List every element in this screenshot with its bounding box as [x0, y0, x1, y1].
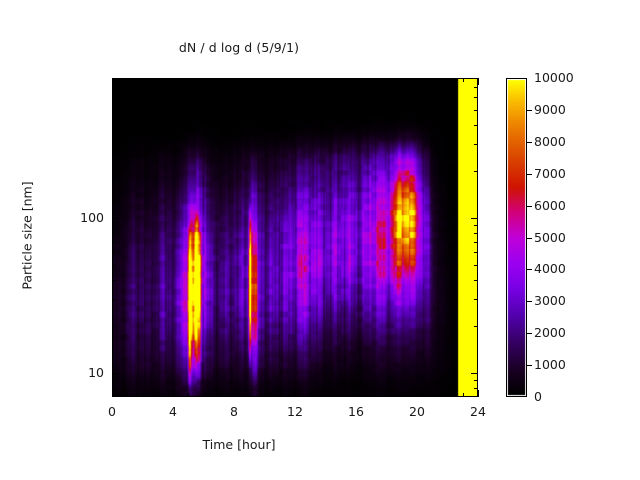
colorbar-tick-label-1000: 1000 [534, 357, 566, 372]
x-tick-label-16: 16 [336, 404, 376, 419]
x-tick-2 [143, 393, 144, 397]
x-tick-4 [173, 390, 174, 397]
colorbar-tick-label-7000: 7000 [534, 166, 566, 181]
y-tick-right-400 [474, 125, 478, 126]
y-tick-40 [112, 280, 116, 281]
colorbar-tick-8000 [527, 142, 532, 143]
x-tick-18 [387, 393, 388, 397]
x-tick-3 [158, 393, 159, 397]
y-tick-600 [112, 97, 116, 98]
y-tick-700 [112, 87, 116, 88]
x-tick-17 [371, 393, 372, 397]
x-tick-1 [127, 393, 128, 397]
x-tick-15 [341, 393, 342, 397]
y-tick-20 [112, 326, 116, 327]
y-tick-right-600 [474, 97, 478, 98]
y-tick-right-20 [474, 326, 478, 327]
x-tick-0 [112, 390, 113, 397]
x-tick-7 [219, 393, 220, 397]
x-tick-top-18 [387, 78, 388, 82]
x-tick-top-7 [219, 78, 220, 82]
y-tick-right-10 [471, 373, 478, 374]
x-tick-16 [356, 390, 357, 397]
x-tick-top-20 [417, 78, 418, 85]
y-tick-200 [112, 171, 116, 172]
x-tick-top-4 [173, 78, 174, 85]
y-tick-right-200 [474, 171, 478, 172]
y-axis-title: Particle size [nm] [20, 146, 35, 326]
x-axis-title: Time [hour] [0, 437, 478, 452]
colorbar-tick-label-8000: 8000 [534, 134, 566, 149]
x-tick-23 [463, 393, 464, 397]
x-tick-top-9 [249, 78, 250, 82]
x-tick-top-22 [448, 78, 449, 82]
y-tick-60 [112, 252, 116, 253]
x-tick-20 [417, 390, 418, 397]
y-tick-label-10: 10 [64, 365, 104, 380]
y-tick-right-500 [474, 110, 478, 111]
colorbar [506, 78, 527, 397]
x-tick-9 [249, 393, 250, 397]
figure-root: dN / d log d (5/9/1) 0481216202410100 Ti… [0, 0, 640, 480]
x-tick-top-19 [402, 78, 403, 82]
x-tick-label-24: 24 [458, 404, 498, 419]
x-tick-top-5 [188, 78, 189, 82]
colorbar-tick-label-4000: 4000 [534, 261, 566, 276]
colorbar-tick-4000 [527, 269, 532, 270]
y-tick-8 [112, 388, 116, 389]
x-tick-label-20: 20 [397, 404, 437, 419]
colorbar-tick-9000 [527, 110, 532, 111]
x-tick-top-1 [127, 78, 128, 82]
x-tick-top-0 [112, 78, 113, 85]
y-tick-30 [112, 299, 116, 300]
x-tick-label-12: 12 [275, 404, 315, 419]
y-tick-80 [112, 233, 116, 234]
y-tick-400 [112, 125, 116, 126]
y-tick-300 [112, 144, 116, 145]
x-tick-top-12 [295, 78, 296, 85]
colorbar-tick-label-5000: 5000 [534, 230, 566, 245]
x-tick-top-16 [356, 78, 357, 85]
x-tick-21 [432, 393, 433, 397]
colorbar-tick-label-2000: 2000 [534, 325, 566, 340]
heatmap-image [113, 79, 477, 396]
colorbar-tick-label-3000: 3000 [534, 293, 566, 308]
colorbar-tick-label-0: 0 [534, 389, 542, 404]
x-tick-label-4: 4 [153, 404, 193, 419]
colorbar-tick-6000 [527, 206, 532, 207]
colorbar-tick-2000 [527, 333, 532, 334]
x-tick-13 [310, 393, 311, 397]
x-tick-14 [326, 393, 327, 397]
heatmap-plot-area [112, 78, 478, 397]
x-tick-top-24 [478, 78, 479, 85]
colorbar-tick-label-10000: 10000 [534, 70, 574, 85]
x-tick-11 [280, 393, 281, 397]
x-tick-8 [234, 390, 235, 397]
y-tick-100 [112, 218, 119, 219]
x-tick-top-11 [280, 78, 281, 82]
y-tick-right-60 [474, 252, 478, 253]
y-tick-70 [112, 242, 116, 243]
x-tick-top-10 [265, 78, 266, 82]
colorbar-tick-label-6000: 6000 [534, 198, 566, 213]
x-tick-12 [295, 390, 296, 397]
x-tick-19 [402, 393, 403, 397]
y-tick-right-40 [474, 280, 478, 281]
y-tick-label-100: 100 [64, 210, 104, 225]
colorbar-tick-7000 [527, 174, 532, 175]
colorbar-tick-1000 [527, 365, 532, 366]
x-tick-top-14 [326, 78, 327, 82]
y-tick-right-300 [474, 144, 478, 145]
y-tick-right-30 [474, 299, 478, 300]
y-tick-9 [112, 380, 116, 381]
y-tick-right-8 [474, 388, 478, 389]
y-tick-500 [112, 110, 116, 111]
x-tick-top-15 [341, 78, 342, 82]
x-tick-top-21 [432, 78, 433, 82]
x-tick-10 [265, 393, 266, 397]
y-tick-10 [112, 373, 119, 374]
x-tick-5 [188, 393, 189, 397]
y-tick-right-90 [474, 225, 478, 226]
y-tick-right-700 [474, 87, 478, 88]
x-tick-24 [478, 390, 479, 397]
x-tick-top-23 [463, 78, 464, 82]
colorbar-tick-label-9000: 9000 [534, 102, 566, 117]
colorbar-tick-5000 [527, 238, 532, 239]
y-tick-right-80 [474, 233, 478, 234]
y-tick-right-9 [474, 380, 478, 381]
x-tick-top-6 [204, 78, 205, 82]
y-tick-90 [112, 225, 116, 226]
x-tick-top-17 [371, 78, 372, 82]
x-tick-22 [448, 393, 449, 397]
y-tick-50 [112, 265, 116, 266]
y-tick-right-70 [474, 242, 478, 243]
y-tick-right-100 [471, 218, 478, 219]
x-tick-top-2 [143, 78, 144, 82]
colorbar-tick-3000 [527, 301, 532, 302]
x-tick-label-0: 0 [92, 404, 132, 419]
x-tick-label-8: 8 [214, 404, 254, 419]
y-tick-right-50 [474, 265, 478, 266]
x-tick-top-8 [234, 78, 235, 85]
x-tick-6 [204, 393, 205, 397]
x-tick-top-3 [158, 78, 159, 82]
x-tick-top-13 [310, 78, 311, 82]
chart-title: dN / d log d (5/9/1) [0, 40, 478, 55]
